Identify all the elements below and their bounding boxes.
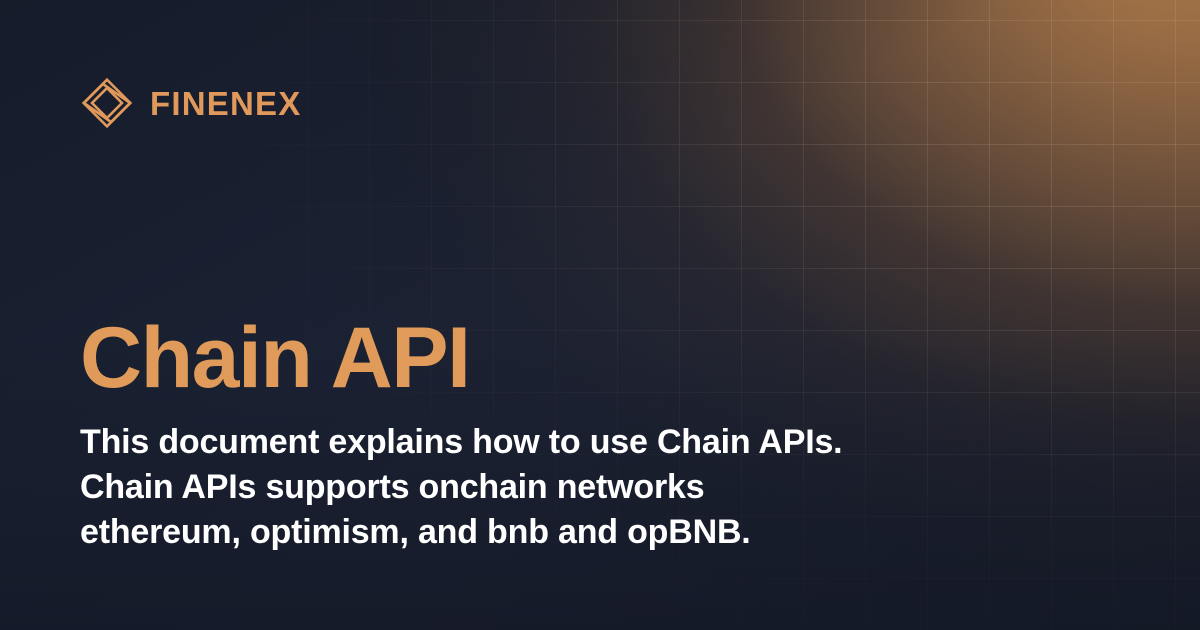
brand-name: FINENEX: [150, 87, 301, 120]
page-title: Chain API: [80, 313, 469, 403]
brand-lockup: FINENEX: [78, 74, 301, 132]
page-description: This document explains how to use Chain …: [80, 420, 870, 555]
finenex-diamond-logo-icon: [78, 74, 136, 132]
banner-content: FINENEX Chain API This document explains…: [0, 0, 1200, 630]
og-banner-canvas: FINENEX Chain API This document explains…: [0, 0, 1200, 630]
